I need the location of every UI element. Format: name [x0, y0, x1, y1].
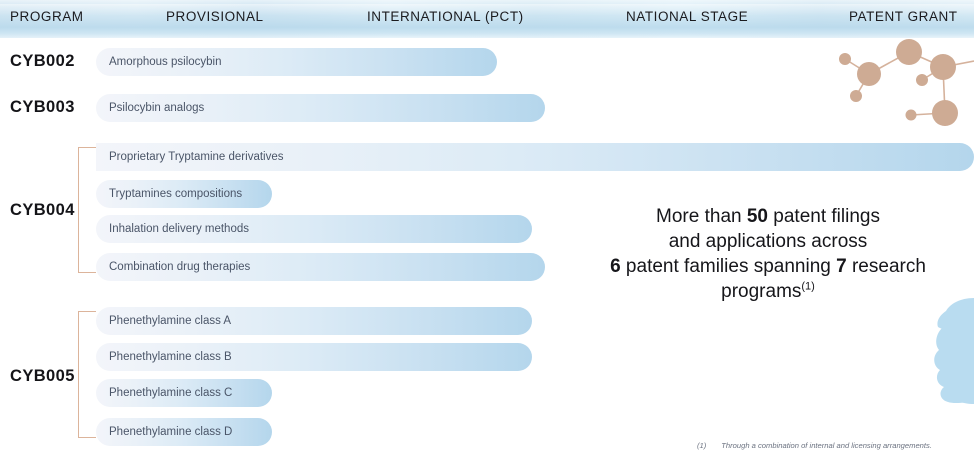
summary-line-1: More than 50 patent filings: [566, 204, 970, 229]
patent-bar[interactable]: Amorphous psilocybin: [96, 48, 497, 76]
column-header-4: NATIONAL STAGE: [626, 9, 748, 24]
patent-bar[interactable]: Phenethylamine class C: [96, 379, 272, 407]
summary-line-4-text: programs: [721, 281, 801, 302]
patent-bar[interactable]: Proprietary Tryptamine derivatives: [96, 143, 974, 171]
group-bracket-cyb004: [78, 147, 96, 273]
patent-bar-label: Amorphous psilocybin: [109, 48, 222, 76]
program-label-cyb005: CYB005: [10, 367, 75, 386]
summary-line-4: programs(1): [566, 279, 970, 304]
summary-line-1-prefix: More than: [656, 206, 747, 227]
patent-bar[interactable]: Phenethylamine class B: [96, 343, 532, 371]
footnote-text: Through a combination of internal and li…: [721, 441, 932, 450]
patent-bar-label: Inhalation delivery methods: [109, 215, 249, 243]
patent-bar[interactable]: Psilocybin analogs: [96, 94, 545, 122]
patent-portfolio-infographic: PROGRAMPROVISIONALINTERNATIONAL (PCT)NAT…: [0, 0, 974, 458]
patent-bar-label: Phenethylamine class B: [109, 343, 232, 371]
column-header-3: INTERNATIONAL (PCT): [367, 9, 524, 24]
column-header-5: PATENT GRANT: [849, 9, 958, 24]
summary-line-3: 6 patent families spanning 7 research: [566, 254, 970, 279]
summary-line-1-suffix: patent filings: [768, 206, 880, 227]
molecule-icon: [826, 36, 974, 138]
patent-bar[interactable]: Inhalation delivery methods: [96, 215, 532, 243]
summary-line-2: and applications across: [566, 229, 970, 254]
patent-families-count: 6: [610, 256, 621, 277]
cloud-icon: [902, 292, 974, 418]
footnote-mark: (1): [697, 441, 706, 450]
footnote: (1)Through a combination of internal and…: [697, 441, 974, 450]
summary-line-3-suffix: research: [847, 256, 926, 277]
column-header-2: PROVISIONAL: [166, 9, 264, 24]
patent-bar[interactable]: Combination drug therapies: [96, 253, 545, 281]
patent-bar-label: Combination drug therapies: [109, 253, 250, 281]
patent-bar-label: Phenethylamine class A: [109, 307, 231, 335]
patent-bar[interactable]: Phenethylamine class D: [96, 418, 272, 446]
patent-filings-count: 50: [747, 206, 768, 227]
summary-statement: More than 50 patent filings and applicat…: [566, 204, 970, 304]
patent-bar-label: Phenethylamine class C: [109, 379, 232, 407]
program-label-cyb002: CYB002: [10, 52, 75, 71]
summary-line-3-mid: patent families spanning: [621, 256, 836, 277]
column-header-1: PROGRAM: [10, 9, 84, 24]
research-programs-count: 7: [836, 256, 847, 277]
program-label-cyb004: CYB004: [10, 201, 75, 220]
patent-bar-label: Proprietary Tryptamine derivatives: [109, 143, 283, 171]
patent-bar-label: Tryptamines compositions: [109, 180, 242, 208]
program-label-cyb003: CYB003: [10, 98, 75, 117]
patent-bar-label: Phenethylamine class D: [109, 418, 232, 446]
footnote-reference: (1): [801, 281, 814, 293]
patent-bar[interactable]: Tryptamines compositions: [96, 180, 272, 208]
patent-bar[interactable]: Phenethylamine class A: [96, 307, 532, 335]
patent-bar-label: Psilocybin analogs: [109, 94, 204, 122]
group-bracket-cyb005: [78, 311, 96, 438]
